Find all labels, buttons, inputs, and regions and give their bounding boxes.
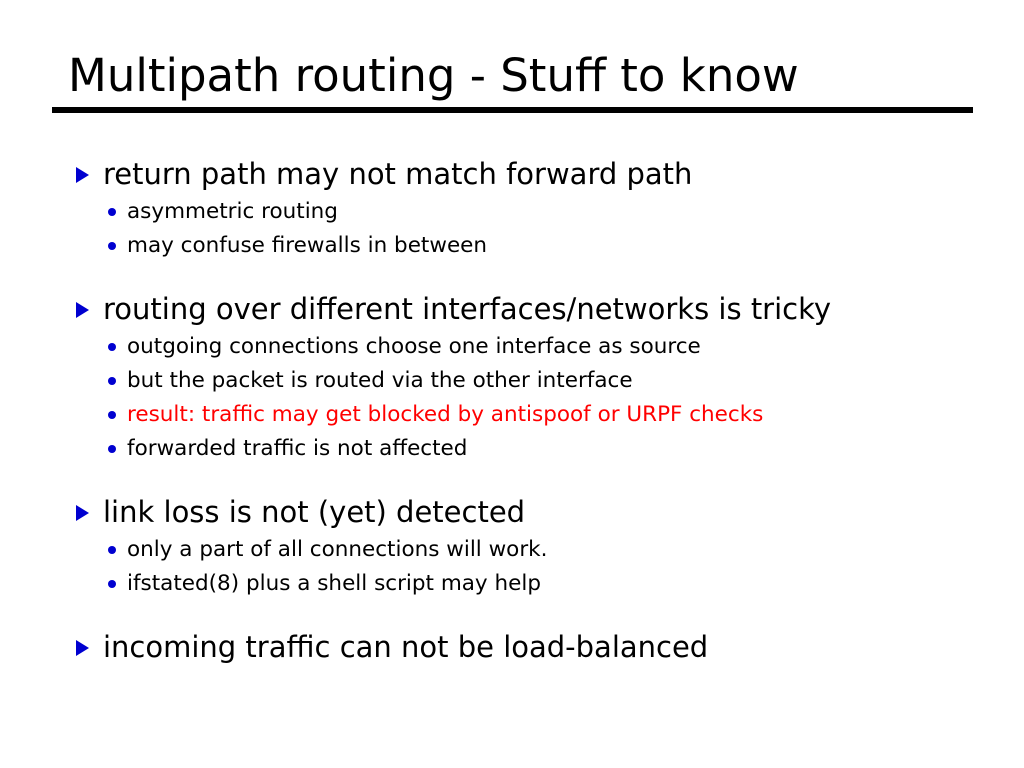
bullet-group: incoming traffic can not be load-balance… (76, 627, 996, 667)
level1-bullet-label: incoming traffic can not be load-balance… (103, 627, 708, 667)
level2-bullet-list: asymmetric routing may confuse firewalls… (76, 195, 996, 263)
triangle-right-icon (76, 505, 89, 521)
bullet-group: routing over different interfaces/networ… (76, 289, 996, 466)
level2-bullet-label: may confuse firewalls in between (127, 229, 487, 263)
page-title: Multipath routing - Stuff to know (52, 48, 973, 104)
level2-bullet-label: outgoing connections choose one interfac… (127, 330, 701, 364)
level2-bullet-item: asymmetric routing (76, 195, 996, 229)
level1-bullet-item: link loss is not (yet) detected (76, 492, 996, 532)
dot-icon (108, 411, 116, 419)
slide-title-block: Multipath routing - Stuff to know (52, 48, 973, 113)
bullet-group: link loss is not (yet) detected only a p… (76, 492, 996, 601)
level2-bullet-label: asymmetric routing (127, 195, 338, 229)
level2-bullet-item: but the packet is routed via the other i… (76, 364, 996, 398)
presentation-slide: Multipath routing - Stuff to know return… (0, 0, 1024, 768)
dot-icon (108, 580, 116, 588)
dot-icon (108, 208, 116, 216)
level2-bullet-item-highlighted: result: traffic may get blocked by antis… (76, 398, 996, 432)
level2-bullet-label: but the packet is routed via the other i… (127, 364, 633, 398)
level2-bullet-item: may confuse firewalls in between (76, 229, 996, 263)
triangle-right-icon (76, 302, 89, 318)
level2-bullet-item: forwarded traffic is not affected (76, 432, 996, 466)
level2-bullet-list: outgoing connections choose one interfac… (76, 330, 996, 466)
triangle-right-icon (76, 640, 89, 656)
level2-bullet-item: only a part of all connections will work… (76, 533, 996, 567)
level1-bullet-item: return path may not match forward path (76, 154, 996, 194)
level2-bullet-label: result: traffic may get blocked by antis… (127, 398, 763, 432)
level1-bullet-item: routing over different interfaces/networ… (76, 289, 996, 329)
dot-icon (108, 242, 116, 250)
level2-bullet-label: ifstated(8) plus a shell script may help (127, 567, 541, 601)
level2-bullet-item: ifstated(8) plus a shell script may help (76, 567, 996, 601)
level1-bullet-item: incoming traffic can not be load-balance… (76, 627, 996, 667)
level2-bullet-list: only a part of all connections will work… (76, 533, 996, 601)
title-divider (52, 107, 973, 113)
level1-bullet-label: return path may not match forward path (103, 154, 692, 194)
level2-bullet-label: only a part of all connections will work… (127, 533, 547, 567)
triangle-right-icon (76, 167, 89, 183)
bullet-group: return path may not match forward path a… (76, 154, 996, 263)
dot-icon (108, 546, 116, 554)
dot-icon (108, 377, 116, 385)
level2-bullet-item: outgoing connections choose one interfac… (76, 330, 996, 364)
level1-bullet-label: routing over different interfaces/networ… (103, 289, 831, 329)
dot-icon (108, 343, 116, 351)
level1-bullet-label: link loss is not (yet) detected (103, 492, 525, 532)
slide-body: return path may not match forward path a… (76, 154, 996, 667)
level2-bullet-label: forwarded traffic is not affected (127, 432, 467, 466)
dot-icon (108, 445, 116, 453)
